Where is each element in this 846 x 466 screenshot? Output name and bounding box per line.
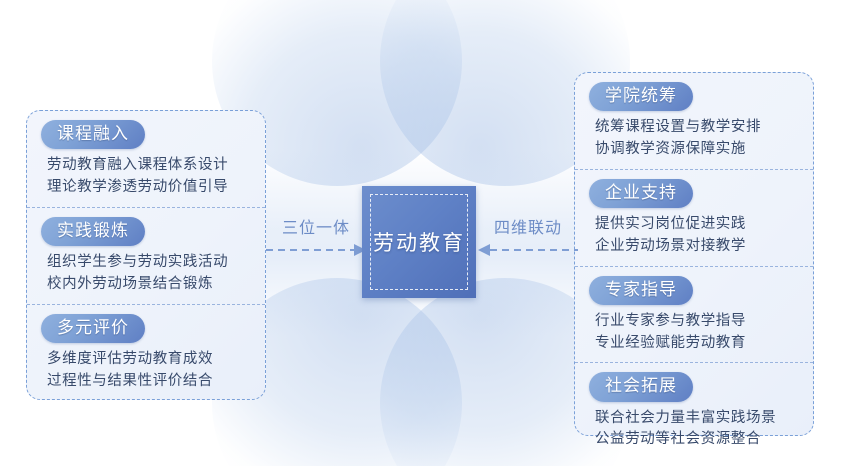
center-node[interactable]: 劳动教育	[362, 186, 476, 298]
right-line-2-2: 企业劳动场景对接教学	[595, 236, 799, 258]
right-line-3-1: 行业专家参与教学指导	[595, 311, 799, 333]
right-line-4-2: 公益劳动等社会资源整合	[595, 429, 799, 451]
center-node-label: 劳动教育	[362, 227, 476, 257]
right-pill-1[interactable]: 学院统筹	[589, 82, 693, 111]
right-section-4[interactable]: 社会拓展 联合社会力量丰富实践场景 公益劳动等社会资源整合	[575, 362, 813, 459]
left-pill-1[interactable]: 课程融入	[41, 120, 145, 149]
left-line-1-1: 劳动教育融入课程体系设计	[47, 155, 251, 177]
left-line-3-2: 过程性与结果性评价结合	[47, 371, 251, 393]
left-line-1-2: 理论教学渗透劳动价值引导	[47, 177, 251, 199]
right-lines-3: 行业专家参与教学指导 专业经验赋能劳动教育	[589, 311, 799, 355]
left-line-2-1: 组织学生参与劳动实践活动	[47, 252, 251, 274]
right-section-1[interactable]: 学院统筹 统筹课程设置与教学安排 协调教学资源保障实施	[575, 73, 813, 169]
diagram-canvas: 课程融入 劳动教育融入课程体系设计 理论教学渗透劳动价值引导 实践锻炼 组织学生…	[0, 0, 846, 466]
right-lines-1: 统筹课程设置与教学安排 协调教学资源保障实施	[589, 117, 799, 161]
right-pill-3[interactable]: 专家指导	[589, 276, 693, 305]
connector-left: 三位一体	[266, 214, 366, 260]
connector-right-label: 四维联动	[478, 214, 578, 238]
left-lines-2: 组织学生参与劳动实践活动 校内外劳动场景结合锻炼	[41, 252, 251, 296]
connector-right: 四维联动	[478, 214, 578, 260]
left-lines-3: 多维度评估劳动教育成效 过程性与结果性评价结合	[41, 349, 251, 393]
left-section-2[interactable]: 实践锻炼 组织学生参与劳动实践活动 校内外劳动场景结合锻炼	[27, 207, 265, 304]
left-pill-3[interactable]: 多元评价	[41, 314, 145, 343]
right-line-2-1: 提供实习岗位促进实践	[595, 214, 799, 236]
right-section-2[interactable]: 企业支持 提供实习岗位促进实践 企业劳动场景对接教学	[575, 169, 813, 266]
right-line-1-1: 统筹课程设置与教学安排	[595, 117, 799, 139]
right-pill-2[interactable]: 企业支持	[589, 179, 693, 208]
right-pill-4[interactable]: 社会拓展	[589, 372, 693, 401]
right-line-4-1: 联合社会力量丰富实践场景	[595, 408, 799, 430]
right-line-1-2: 协调教学资源保障实施	[595, 139, 799, 161]
connector-left-label: 三位一体	[266, 214, 366, 238]
left-section-3[interactable]: 多元评价 多维度评估劳动教育成效 过程性与结果性评价结合	[27, 304, 265, 401]
left-lines-1: 劳动教育融入课程体系设计 理论教学渗透劳动价值引导	[41, 155, 251, 199]
right-line-3-2: 专业经验赋能劳动教育	[595, 333, 799, 355]
right-lines-4: 联合社会力量丰富实践场景 公益劳动等社会资源整合	[589, 408, 799, 452]
right-panel: 学院统筹 统筹课程设置与教学安排 协调教学资源保障实施 企业支持 提供实习岗位促…	[574, 72, 814, 436]
right-section-3[interactable]: 专家指导 行业专家参与教学指导 专业经验赋能劳动教育	[575, 266, 813, 363]
right-lines-2: 提供实习岗位促进实践 企业劳动场景对接教学	[589, 214, 799, 258]
left-section-1[interactable]: 课程融入 劳动教育融入课程体系设计 理论教学渗透劳动价值引导	[27, 111, 265, 207]
arrow-left-icon	[478, 240, 578, 260]
arrow-right-icon	[266, 240, 366, 260]
left-panel: 课程融入 劳动教育融入课程体系设计 理论教学渗透劳动价值引导 实践锻炼 组织学生…	[26, 110, 266, 400]
left-line-2-2: 校内外劳动场景结合锻炼	[47, 274, 251, 296]
left-pill-2[interactable]: 实践锻炼	[41, 217, 145, 246]
left-line-3-1: 多维度评估劳动教育成效	[47, 349, 251, 371]
